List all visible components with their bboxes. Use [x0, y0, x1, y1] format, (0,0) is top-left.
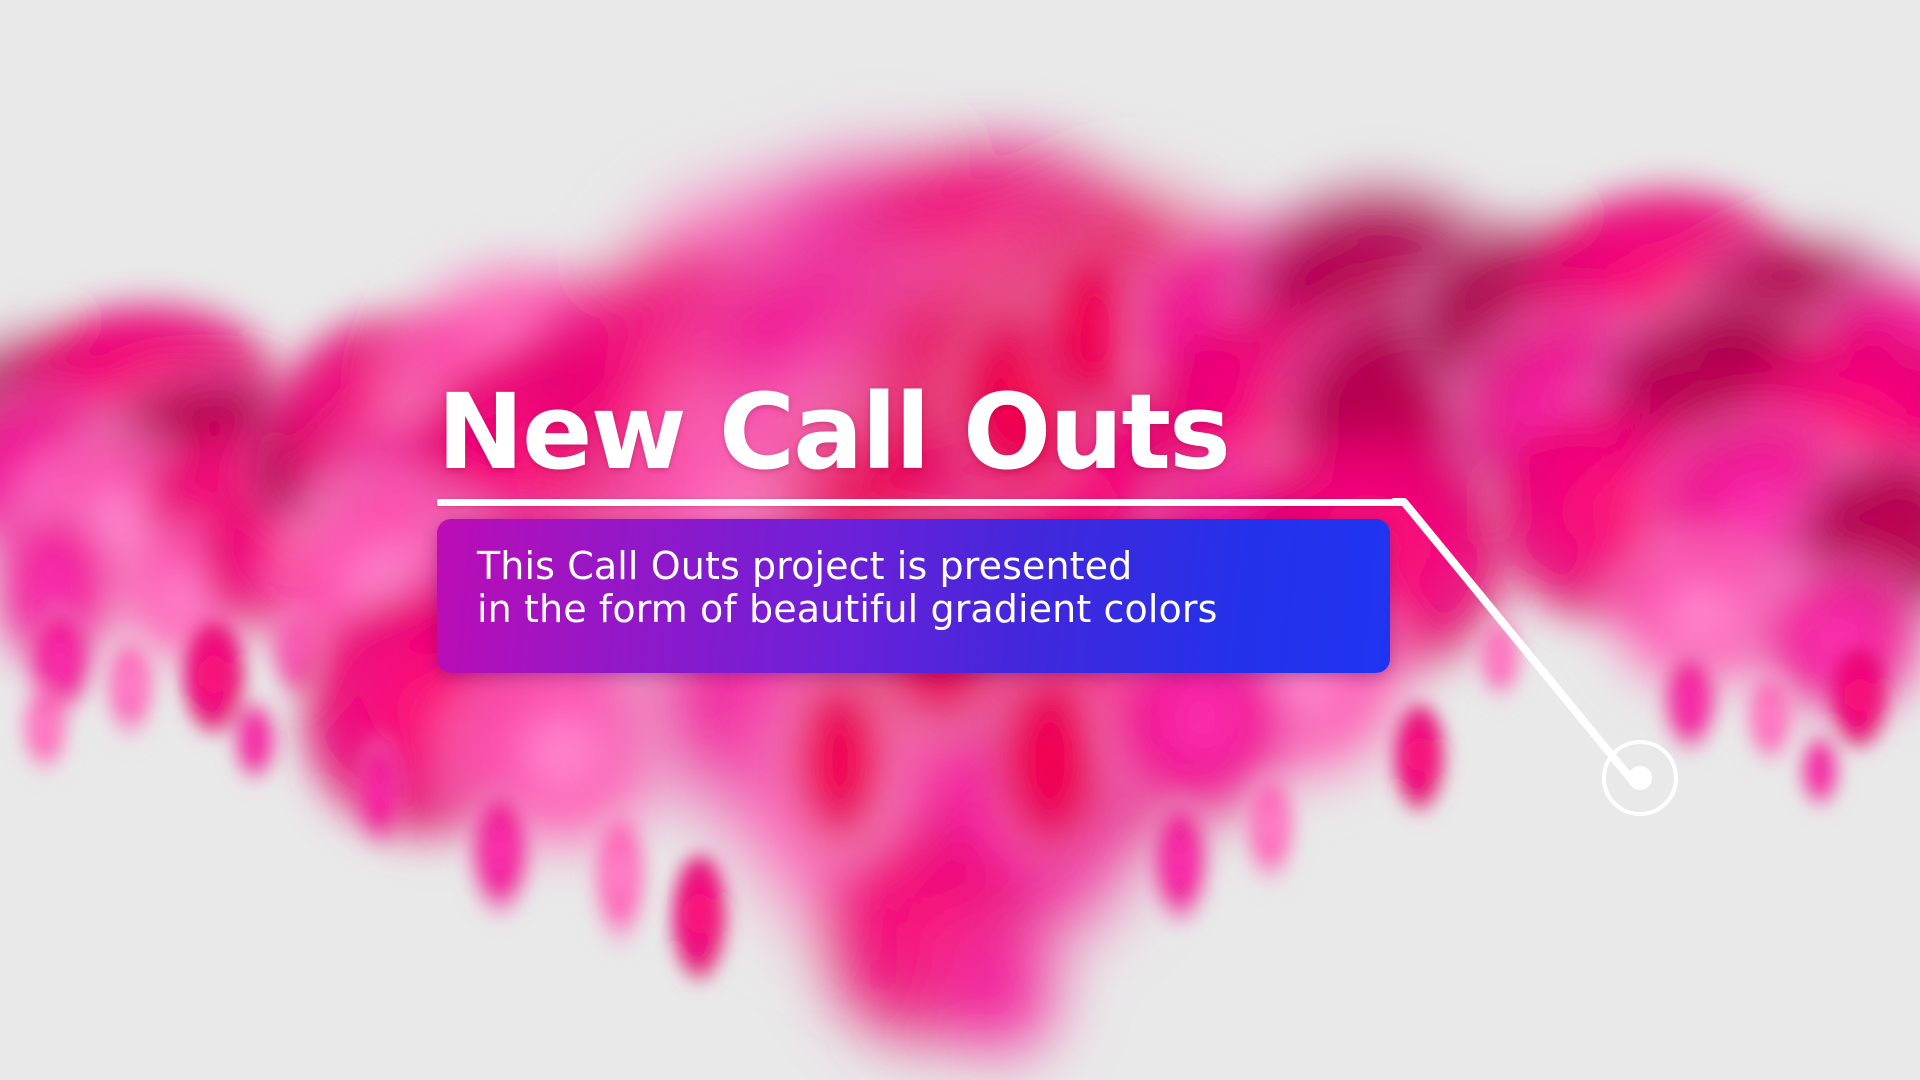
callout-scene: New Call Outs This Call Outs project is … — [0, 0, 1920, 1080]
description-panel[interactable]: This Call Outs project is presented in t… — [437, 519, 1390, 673]
callout-title-block: New Call Outs — [437, 382, 1397, 484]
page-title: New Call Outs — [437, 382, 1397, 484]
pointer-target-marker[interactable] — [1602, 740, 1678, 816]
description-line-1: This Call Outs project is presented — [477, 545, 1390, 588]
marker-dot-icon — [1628, 766, 1652, 790]
description-line-2: in the form of beautiful gradient colors — [477, 588, 1390, 631]
